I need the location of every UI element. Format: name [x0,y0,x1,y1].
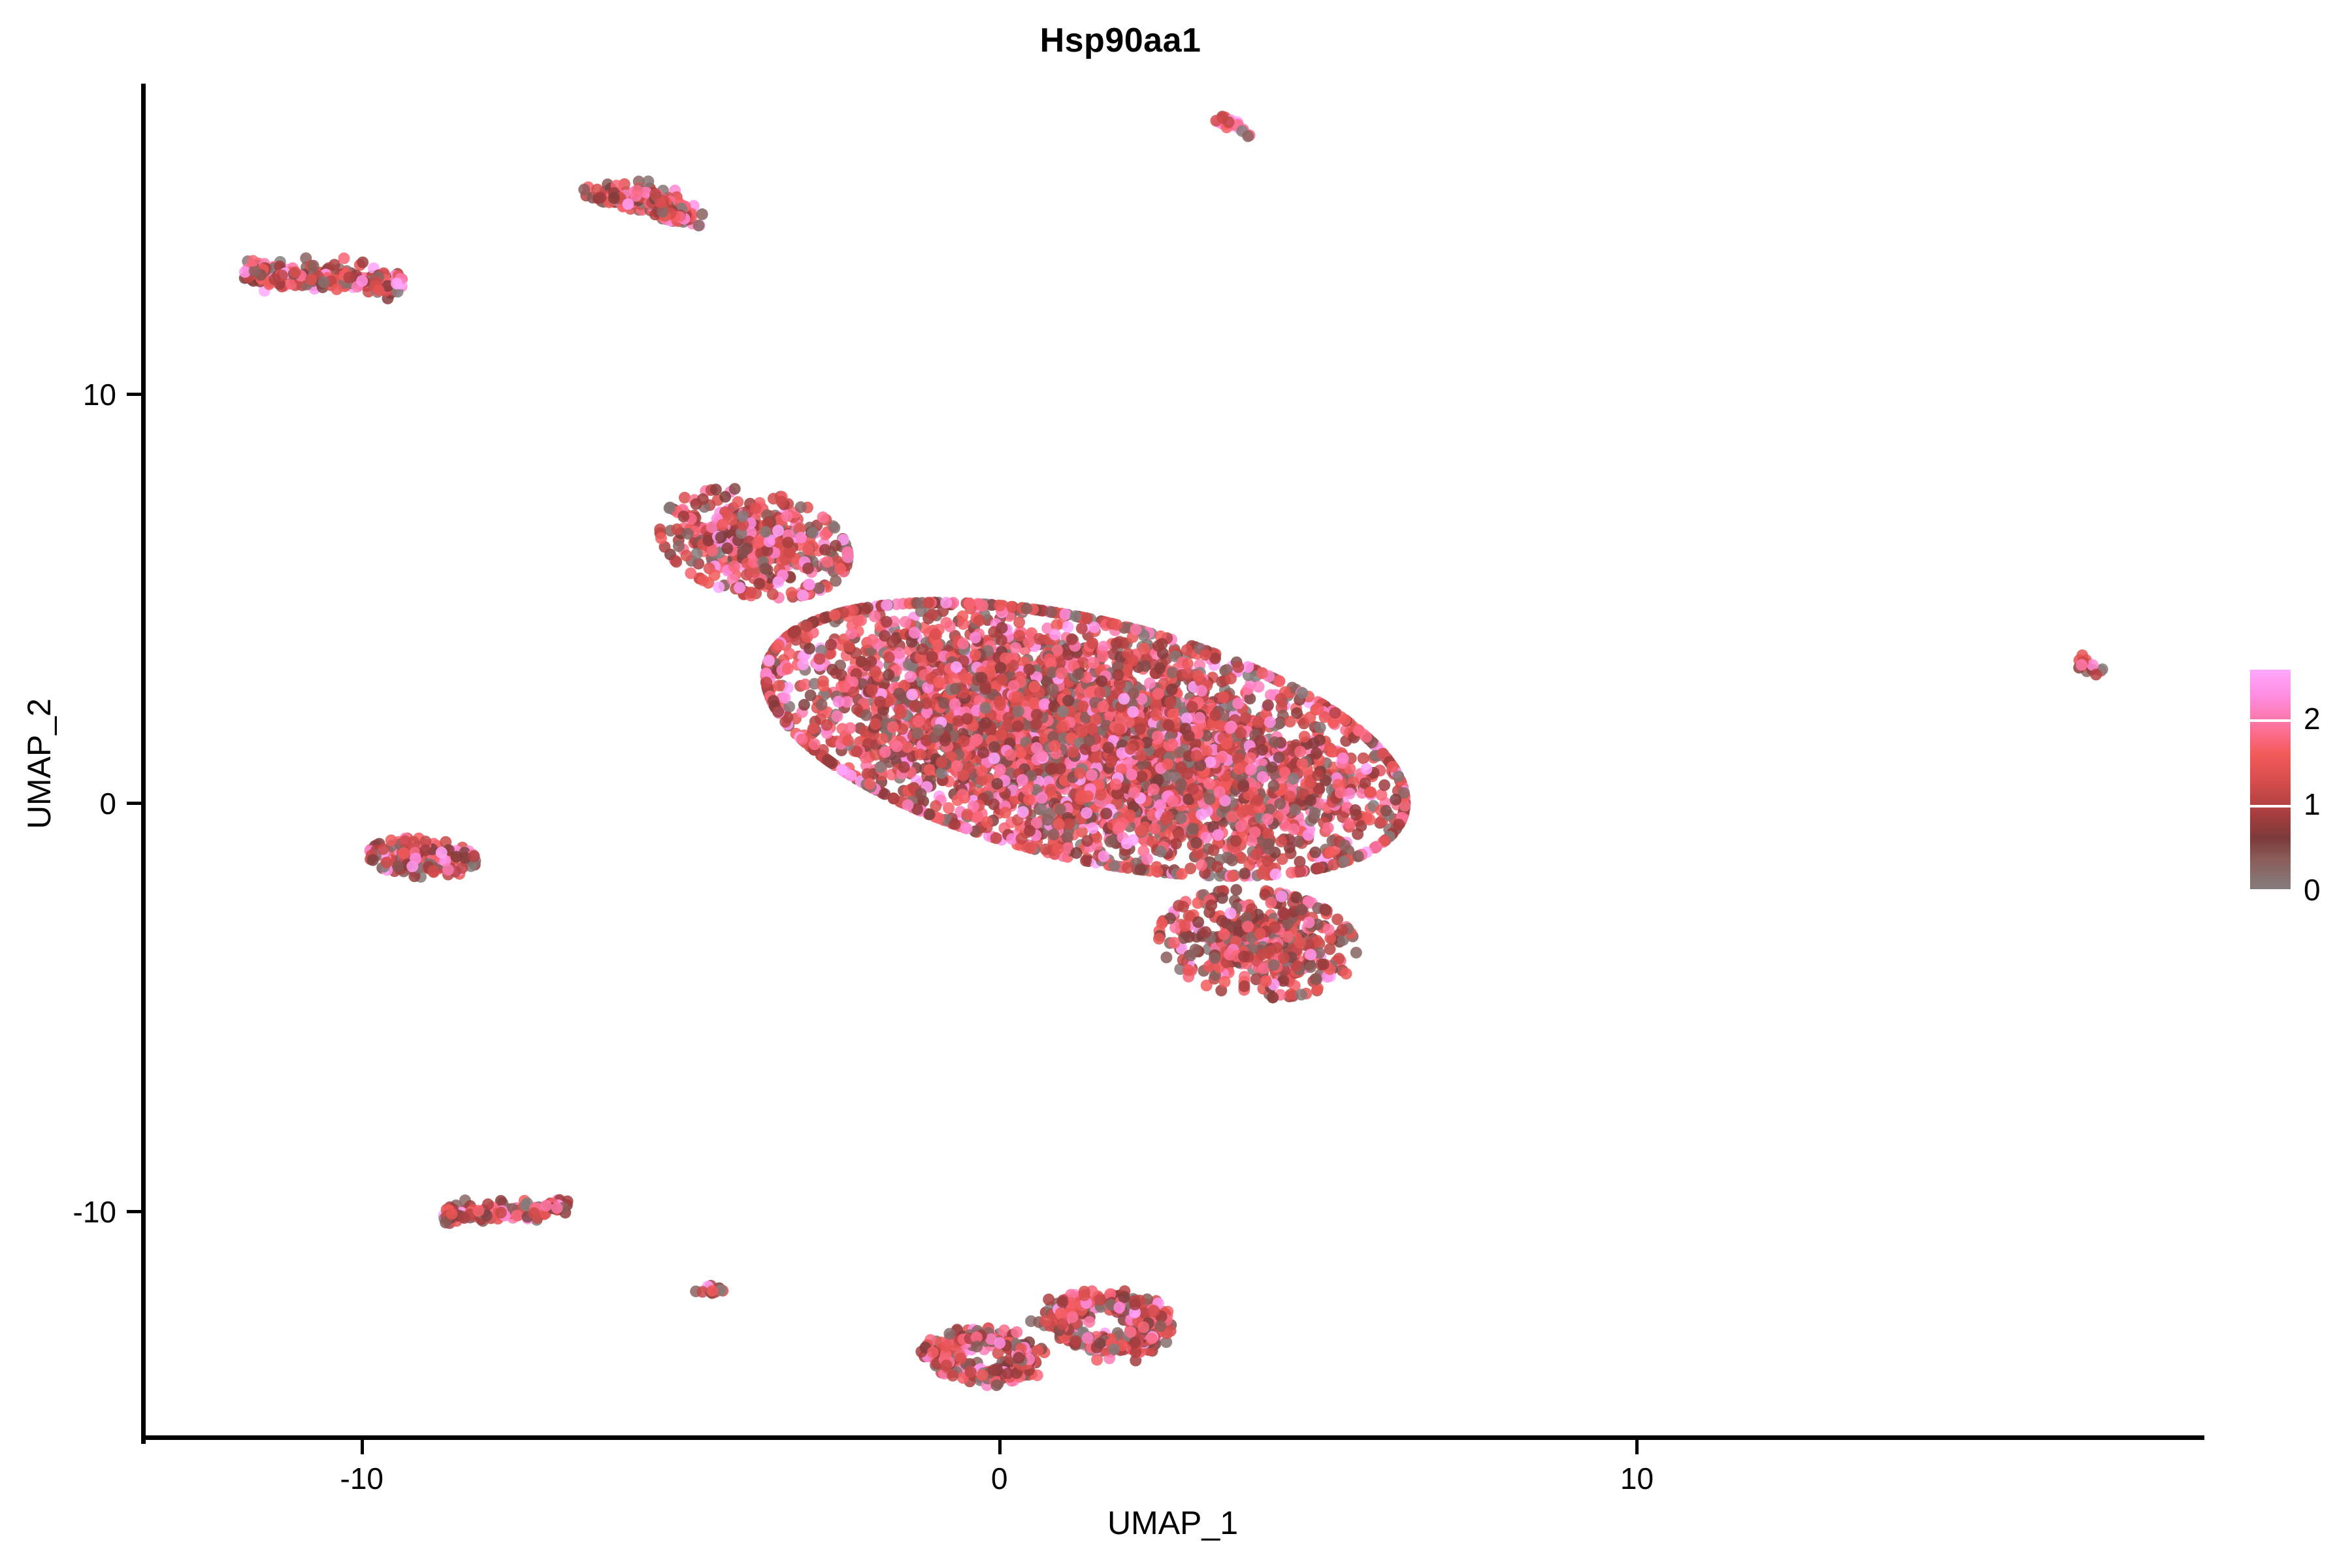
scatter-point [1080,855,1092,866]
scatter-point [1358,753,1369,764]
scatter-point [1269,736,1281,748]
scatter-point [1235,821,1247,832]
scatter-point [774,679,785,691]
scatter-point [1113,669,1124,681]
scatter-point [851,704,863,715]
scatter-point [1312,703,1324,715]
scatter-point [870,666,881,678]
scatter-point [988,798,1000,810]
scatter-point [772,706,784,718]
scatter-point [879,746,891,758]
scatter-point [1049,740,1060,752]
scatter-point [970,649,981,661]
scatter-point [729,483,741,495]
scatter-point [1224,722,1236,734]
scatter-point [938,697,950,709]
scatter-point [1023,664,1035,676]
scatter-point [933,724,945,736]
scatter-point [1110,779,1122,791]
scatter-point [1190,837,1202,849]
scatter-point [1035,804,1047,815]
scatter-point [1262,813,1273,825]
scatter-point [964,598,975,610]
scatter-point [1165,696,1177,708]
scatter-point [994,696,1005,708]
scatter-point [1273,676,1285,687]
scatter-point [1288,773,1299,785]
scatter-point [869,611,881,623]
scatter-point [862,768,874,780]
scatter-point [679,492,691,504]
scatter-point [1013,617,1025,629]
scatter-point [866,684,878,696]
scatter-point [1105,756,1117,768]
scatter-point [979,702,991,714]
scatter-point [1364,814,1375,826]
scatter-point [1322,822,1334,834]
scatter-point [1012,691,1024,703]
scatter-point [888,792,900,804]
scatter-point [915,788,926,800]
scatter-point [1008,680,1020,692]
scatter-point [1226,811,1238,823]
scatter-point [1200,649,1211,661]
scatter-point [1239,868,1250,879]
scatter-point [809,738,821,750]
scatter-point [826,664,838,676]
scatter-point [994,764,1006,776]
scatter-point [968,736,980,747]
scatter-point [1214,786,1226,798]
scatter-point [1162,759,1173,770]
scatter-point [269,274,280,286]
scatter-point [1328,858,1339,870]
scatter-point [1350,809,1362,821]
scatter-point [893,688,905,700]
scatter-point [1155,845,1167,857]
scatter-point [1196,809,1207,821]
scatter-point [816,699,828,711]
scatter-point [949,819,960,830]
scatter-point [1252,716,1264,728]
scatter-point [996,634,1007,646]
scatter-point [1063,818,1075,830]
scatter-point [808,723,819,734]
scatter-point [1086,769,1098,781]
scatter-point [1017,806,1029,818]
scatter-point [1111,638,1122,649]
scatter-point [1235,727,1247,739]
scatter-point [1039,698,1051,710]
scatter-point [1049,629,1061,640]
scatter-point [1062,621,1074,633]
scatter-point [1160,814,1171,826]
scatter-point [887,721,899,733]
scatter-point [649,188,661,200]
scatter-point [1232,698,1244,710]
scatter-point [1296,687,1308,699]
scatter-point [879,630,890,642]
scatter-point [817,676,829,687]
scatter-point [1139,660,1151,672]
scatter-point [1303,829,1315,841]
scatter-point [867,634,879,645]
scatter-point [1126,769,1137,781]
scatter-point [1387,761,1399,773]
scatter-point [289,267,301,278]
scatter-point [1181,644,1193,656]
scatter-point [1048,828,1060,840]
scatter-point [1034,633,1045,645]
scatter-point [917,644,928,655]
scatter-point [632,185,644,197]
scatter-point [1264,716,1276,728]
scatter-point [1135,825,1147,837]
scatter-point [1151,710,1162,721]
scatter-point [1262,699,1274,711]
scatter-point [1284,716,1296,728]
scatter-point [1181,713,1193,725]
scatter-point [305,274,317,286]
scatter-point [1013,706,1024,717]
scatter-point [915,749,926,760]
scatter-point [1226,855,1238,866]
scatter-point [1274,798,1286,809]
scatter-point [932,640,943,651]
scatter-point [1039,843,1051,855]
scatter-point [1127,706,1139,718]
scatter-point [819,612,831,624]
scatter-point [1312,862,1324,874]
scatter-point [1209,710,1221,721]
scatter-point [933,677,945,689]
scatter-point [960,673,972,685]
scatter-point [951,760,963,772]
scatter-point [995,729,1007,741]
scatter-point [696,208,708,220]
scatter-point [1379,779,1390,791]
scatter-point [1175,778,1187,790]
scatter-points-layer [145,84,2204,1440]
scatter-point [940,617,952,629]
scatter-point [1144,678,1156,689]
scatter-point [1370,841,1382,853]
scatter-point [1339,840,1350,851]
scatter-point [1031,742,1043,754]
scatter-point [1196,685,1207,696]
scatter-point [847,604,859,616]
scatter-point [926,651,938,663]
scatter-point [1309,847,1321,858]
scatter-point [1102,742,1114,753]
scatter-point [1141,853,1153,865]
scatter-point [1081,612,1093,624]
scatter-point [1210,115,1222,127]
scatter-point [1053,819,1065,830]
scatter-point [958,736,970,747]
scatter-point [1054,804,1066,815]
scatter-point [608,192,620,204]
scatter-point [801,621,813,632]
scatter-point [1305,794,1316,806]
scatter-point [1168,709,1179,721]
scatter-point [796,734,808,745]
scatter-point [1111,619,1122,630]
scatter-point [977,747,989,759]
scatter-point [1149,823,1160,834]
scatter-point [1135,864,1147,875]
scatter-point [1024,842,1036,854]
scatter-point [1076,623,1088,634]
scatter-point [693,220,704,231]
scatter-point [1071,847,1083,859]
scatter-point [1335,787,1347,798]
scatter-point [961,823,973,834]
scatter-point [1266,762,1278,774]
scatter-point [881,616,892,628]
scatter-point [1230,835,1242,847]
scatter-point [994,600,1005,612]
scatter-point [940,597,952,609]
scatter-point [909,627,921,638]
scatter-point [1212,829,1224,841]
scatter-point [1315,722,1326,734]
scatter-point [1097,700,1109,712]
scatter-point [1275,836,1287,847]
scatter-point [373,284,385,296]
scatter-point [980,717,992,729]
scatter-point [1100,808,1112,819]
scatter-point [1052,843,1064,855]
scatter-point [1010,642,1022,654]
scatter-point [981,816,993,828]
scatter-point [329,259,340,270]
scatter-point [1353,725,1365,736]
scatter-point [961,713,973,725]
scatter-point [1203,778,1215,790]
scatter-point [1148,783,1160,795]
scatter-point [936,757,947,768]
scatter-point [1036,792,1048,804]
scatter-point [1182,658,1194,670]
scatter-point [1187,783,1199,794]
scatter-point [864,778,875,790]
scatter-point [957,638,969,649]
scatter-point [1057,706,1069,717]
scatter-point [1000,807,1011,819]
scatter-point [891,740,903,752]
scatter-point [883,669,894,681]
scatter-point [1074,768,1086,779]
scatter-point [1028,681,1040,693]
scatter-point [921,698,932,710]
scatter-point [1207,845,1219,857]
scatter-point [970,632,981,644]
scatter-point [995,662,1007,674]
scatter-point [1066,633,1078,645]
scatter-point [1047,762,1059,774]
scatter-point [1086,723,1098,735]
scatter-point [1166,683,1178,695]
scatter-point [1217,691,1229,703]
scatter-point [909,700,921,712]
scatter-point [1167,795,1179,807]
scatter-point [1070,610,1081,622]
scatter-point [331,284,343,295]
scatter-point [338,252,350,264]
scatter-point [1175,812,1187,824]
scatter-point [1152,640,1164,652]
scatter-point [973,615,985,627]
scatter-point [979,683,991,694]
scatter-point [1309,808,1320,819]
scatter-point [839,681,851,693]
scatter-point [1096,676,1107,687]
scatter-point [1094,687,1106,698]
scatter-point [1257,771,1269,783]
scatter-point [1268,780,1280,792]
scatter-point [1237,781,1249,792]
scatter-point [773,639,785,651]
scatter-point [1125,743,1137,755]
scatter-point [950,683,962,694]
scatter-point [1273,751,1285,763]
scatter-point [894,647,906,659]
scatter-point [1330,707,1341,719]
scatter-point [1134,723,1146,735]
scatter-point [1123,716,1135,728]
scatter-point [843,640,855,652]
scatter-point [831,710,843,722]
scatter-point [1045,606,1057,618]
scatter-point [356,275,368,287]
scatter-point [904,671,916,683]
scatter-point [842,735,854,747]
scatter-point [760,677,772,689]
scatter-point [1075,790,1087,802]
scatter-point [1324,847,1336,858]
scatter-point [898,761,910,773]
scatter-point [308,260,319,272]
scatter-point [1223,116,1235,128]
scatter-point [844,722,856,734]
scatter-point [996,622,1007,634]
scatter-point [1339,714,1351,726]
scatter-point [902,799,914,811]
scatter-point [1135,750,1147,762]
scatter-point [988,741,1000,753]
scatter-point [881,599,892,611]
scatter-point [1245,752,1256,764]
scatter-point [1056,721,1068,733]
scatter-point [1087,823,1099,834]
scatter-point [1269,868,1281,880]
scatter-point [1288,823,1299,835]
scatter-point [797,659,809,670]
scatter-point [975,672,987,684]
scatter-point [1021,602,1032,614]
scatter-point [1275,693,1286,705]
scatter-point [926,609,938,621]
scatter-point [1072,668,1084,680]
scatter-point [883,651,895,663]
scatter-point [1056,668,1068,679]
scatter-point [825,639,837,651]
scatter-point [813,653,825,665]
scatter-point [1196,859,1207,871]
scatter-point [1041,814,1053,826]
scatter-point [1088,657,1100,668]
scatter-point [924,764,936,776]
scatter-point [821,719,832,731]
scatter-point [1005,749,1017,760]
scatter-point [1016,833,1028,845]
scatter-point [990,832,1002,844]
scatter-point [1154,662,1166,674]
scatter-point [1194,712,1205,724]
scatter-point [1081,835,1093,847]
scatter-point [870,718,881,730]
scatter-point [1013,630,1025,642]
scatter-point [1204,793,1216,805]
scatter-point [1176,868,1188,880]
scatter-point [1017,774,1028,786]
scatter-point [1250,849,1262,860]
scatter-point [1060,608,1071,620]
scatter-point [1088,621,1100,633]
scatter-point [1308,738,1320,749]
scatter-point [875,761,887,773]
scatter-point [1233,763,1245,775]
scatter-point [1127,655,1139,666]
scatter-point [779,692,791,704]
scatter-point [1311,747,1322,759]
scatter-point [906,689,918,700]
scatter-point [1122,862,1134,874]
scatter-point [1365,787,1377,798]
scatter-point [902,742,913,753]
scatter-point [1249,826,1261,838]
scatter-point [1227,870,1239,882]
scatter-point [1170,838,1182,849]
scatter-point [1086,638,1098,649]
scatter-point [845,628,857,640]
scatter-point [391,278,402,289]
scatter-point [1263,838,1275,850]
scatter-point [1108,860,1120,872]
scatter-point [1175,761,1187,773]
scatter-point [832,696,844,708]
scatter-point [1337,753,1349,764]
scatter-point [1152,730,1164,742]
scatter-point [988,753,1000,764]
scatter-point [1030,718,1042,730]
scatter-point [951,661,962,673]
scatter-point [913,715,924,727]
scatter-point [895,707,907,719]
scatter-point [1081,807,1092,819]
scatter-point [1225,673,1237,685]
scatter-point [949,698,961,710]
plot-panel [145,84,2204,1440]
scatter-point [1242,131,1254,142]
scatter-point [1289,804,1301,815]
scatter-point [1130,624,1142,636]
scatter-point [924,809,936,821]
scatter-point [1090,751,1102,763]
scatter-point [788,627,800,638]
scatter-point [1338,856,1350,868]
